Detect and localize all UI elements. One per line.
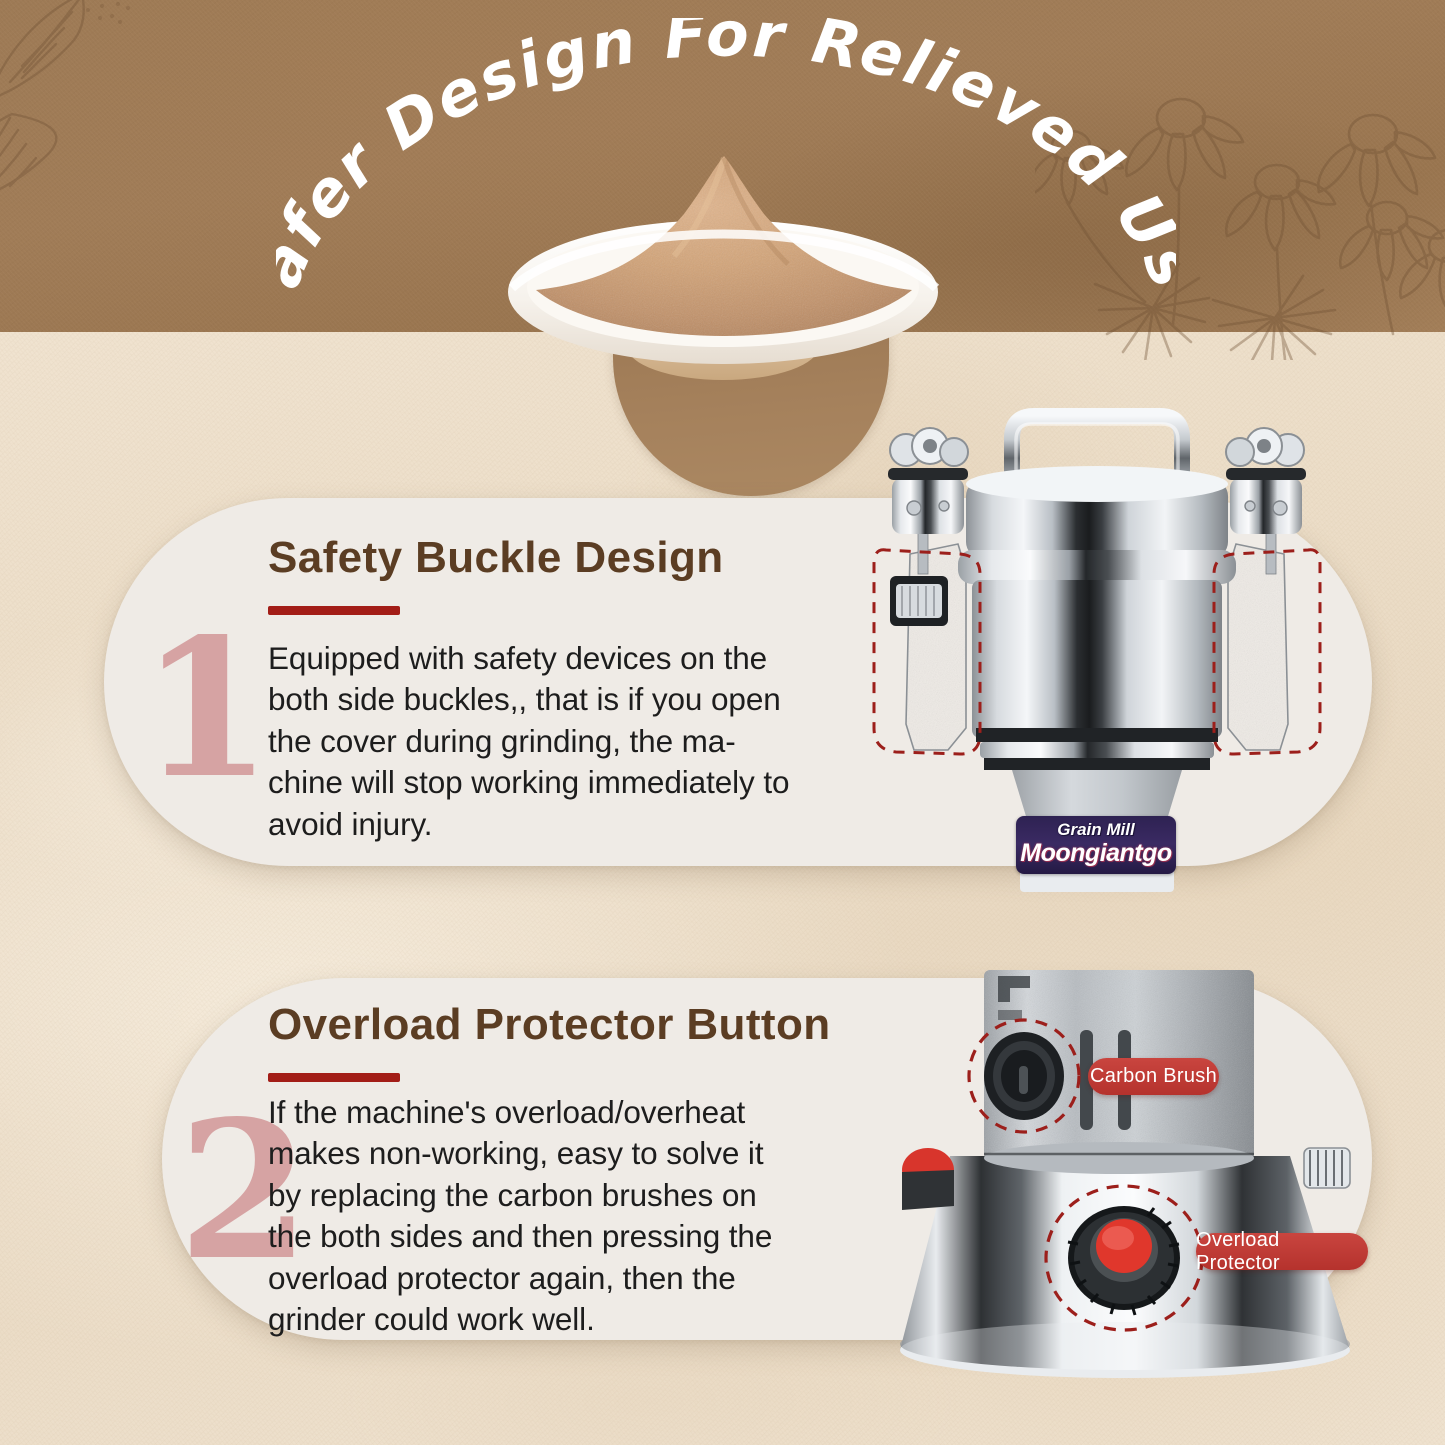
feature-body-1: Equipped with safety devices on the both… — [268, 638, 868, 845]
brand-sticker-line1: Grain Mill — [1016, 820, 1176, 840]
leaf-decoration-icon — [0, 0, 282, 312]
feature-title-1: Safety Buckle Design — [268, 533, 724, 583]
feature-title-2: Overload Protector Button — [268, 1000, 831, 1050]
brand-sticker-line2: Moongiantgo — [1016, 839, 1176, 868]
feature-number-1: 1 — [140, 614, 268, 804]
feature-rule-2 — [268, 1073, 400, 1082]
callout-overload-protector: Overload Protector — [1196, 1233, 1368, 1270]
grinder-base-image — [880, 958, 1360, 1380]
powder-bowl-image — [488, 142, 958, 402]
infographic-page: Safer Design For Relieved Use — [0, 0, 1445, 1445]
brand-sticker: Grain Mill Moongiantgo — [1016, 816, 1176, 874]
callout-carbon-brush: Carbon Brush — [1088, 1058, 1219, 1095]
feature-rule-1 — [268, 606, 400, 615]
feature-body-2: If the machine's overload/overheat makes… — [268, 1092, 863, 1341]
header-banner: Safer Design For Relieved Use — [0, 0, 1445, 332]
